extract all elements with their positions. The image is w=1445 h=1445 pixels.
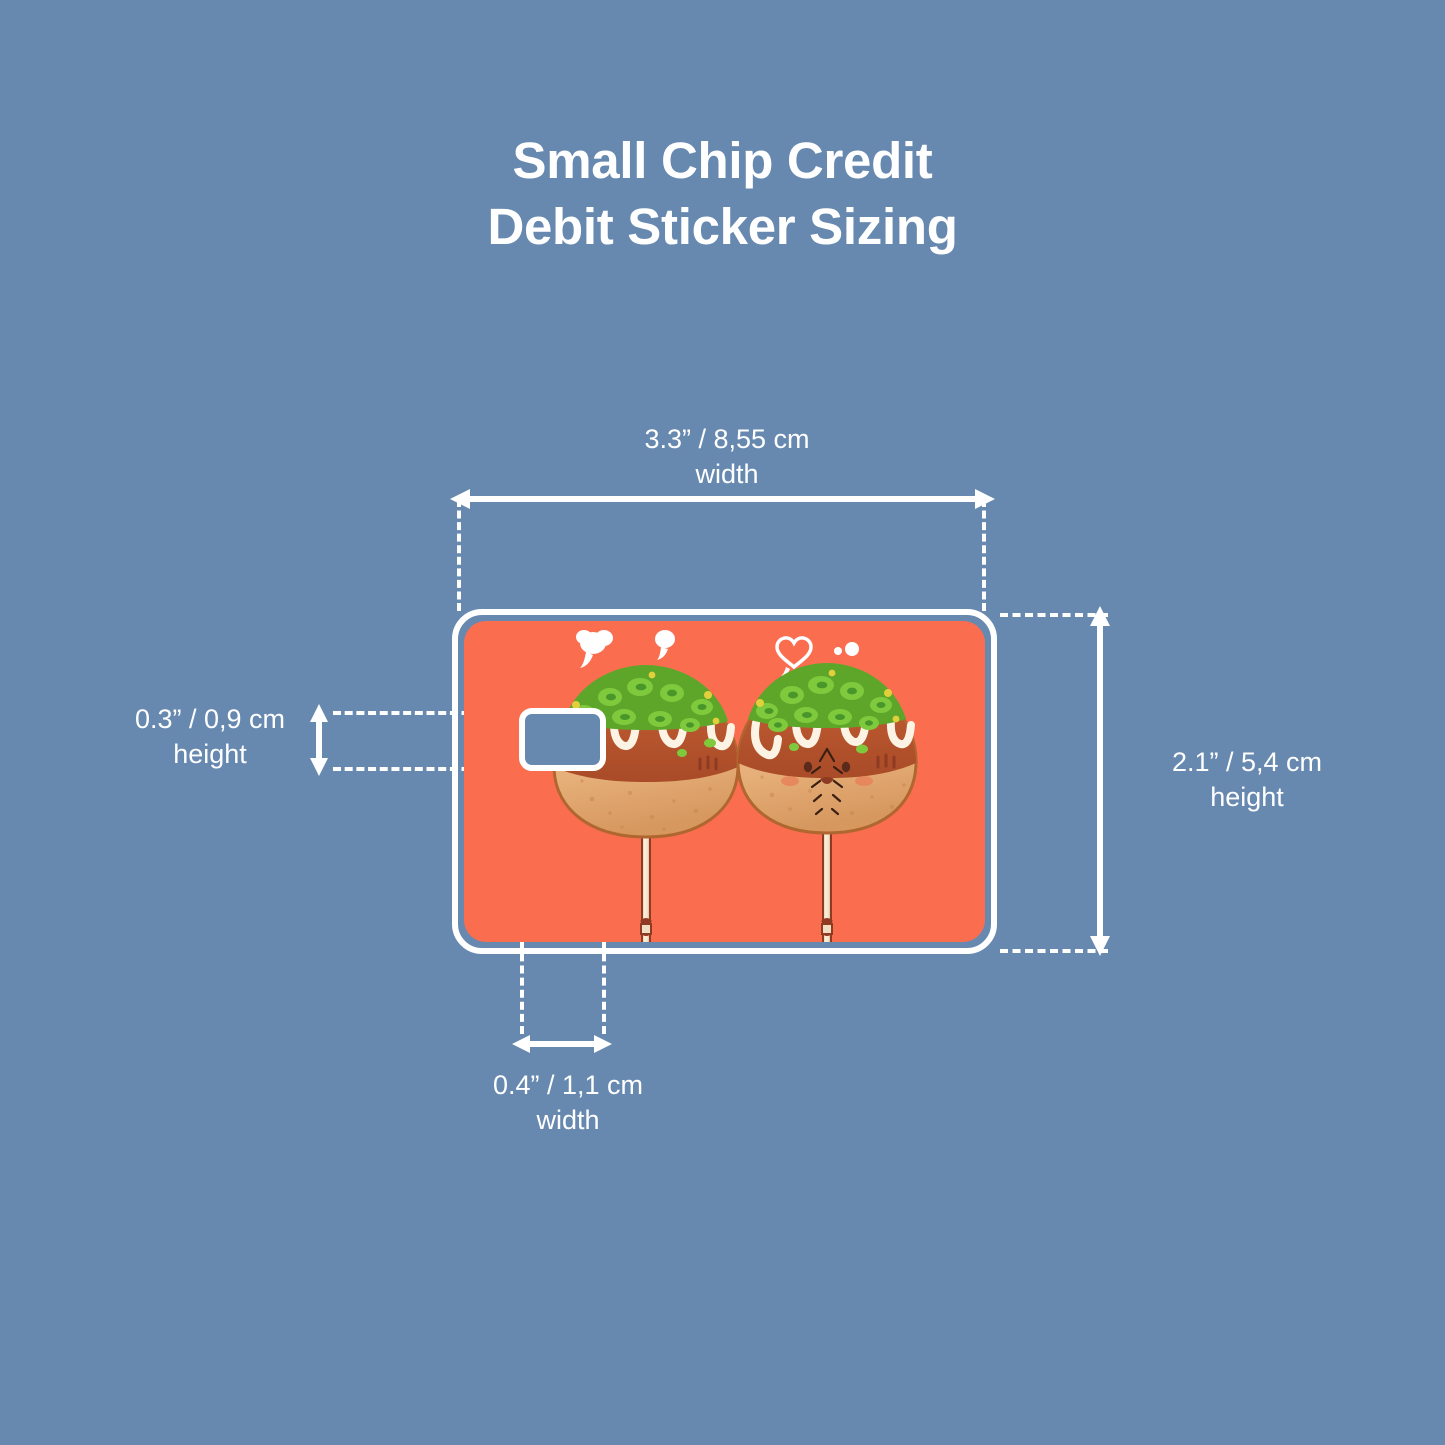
dimension-label-left: 0.3” / 0,9 cm height [95,702,325,772]
dimension-value-left: 0.3” / 0,9 cm [95,702,325,737]
guide-line-top-right [982,499,986,611]
page-title: Small Chip Credit Debit Sticker Sizing [0,128,1445,261]
dimension-label-right: 2.1” / 5,4 cm height [1122,745,1372,815]
steam-puff-icon-b [655,630,675,660]
page-title-line-1: Small Chip Credit [0,128,1445,194]
guide-line-top-left [457,499,461,611]
eye-right [842,762,850,772]
dimension-arrow-right [1086,606,1114,956]
dimension-value-bottom: 0.4” / 1,1 cm [443,1068,693,1103]
dimension-arrow-left [305,704,333,776]
blush-right [855,776,873,786]
dimension-arrow-bottom [512,1031,612,1057]
chip-cutout[interactable] [519,708,606,771]
dimension-axis-bottom: width [443,1103,693,1138]
dimension-label-top: 3.3” / 8,55 cm width [572,422,882,492]
takoyaki-left-group [554,630,738,942]
dimension-arrow-top [450,485,995,513]
card-artwork-takoyaki [464,621,985,942]
dimension-axis-right: height [1122,780,1372,815]
dots-icon [834,642,859,656]
takoyaki-right-group [738,638,916,942]
sizing-diagram: Small Chip Credit Debit Sticker Sizing 3… [0,0,1445,1445]
blush-left [781,776,799,786]
eye-left [804,762,812,772]
page-title-line-2: Debit Sticker Sizing [0,194,1445,260]
dimension-label-bottom: 0.4” / 1,1 cm width [443,1068,693,1138]
heart-icon [777,638,811,667]
sticker-card[interactable] [464,621,985,942]
dimension-axis-left: height [95,737,325,772]
steam-puff-icon-a [576,630,613,668]
dimension-value-top: 3.3” / 8,55 cm [572,422,882,457]
dimension-value-right: 2.1” / 5,4 cm [1122,745,1372,780]
